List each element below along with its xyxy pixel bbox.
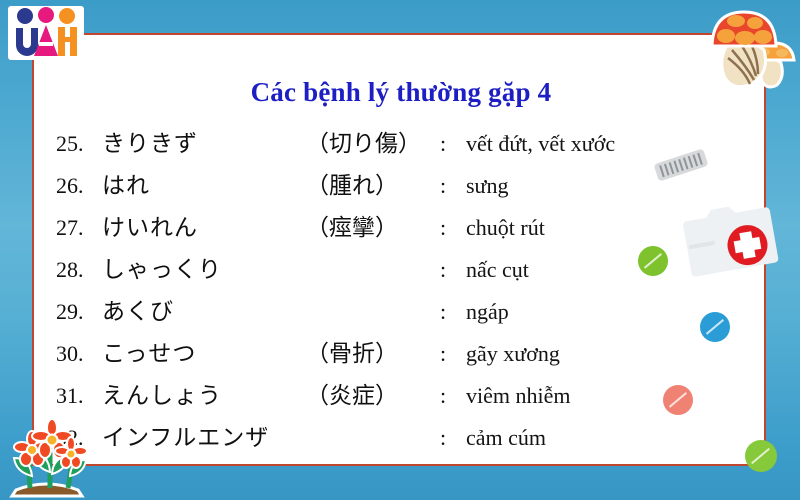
slide-canvas: Các bệnh lý thường gặp 4 25. きりきず （切り傷） … <box>0 0 800 500</box>
entry-number: 25. <box>56 123 98 165</box>
entry-kana: えんしょう <box>102 375 222 417</box>
entry-colon: : <box>440 333 446 375</box>
entry-kanji: （炎症） <box>306 375 398 417</box>
entry-number: 32. <box>56 417 98 459</box>
entry-number: 28. <box>56 249 98 291</box>
list-item: 32. インフルエンザ : cảm cúm <box>34 417 768 459</box>
entry-translation: ngáp <box>466 291 509 333</box>
list-item: 26. はれ （腫れ） : sưng <box>34 165 768 207</box>
entry-kanji: （骨折） <box>306 333 398 375</box>
entry-kana: けいれん <box>102 207 198 249</box>
entry-translation: gãy xương <box>466 333 560 375</box>
entry-number: 26. <box>56 165 98 207</box>
list-item: 30. こっせつ （骨折） : gãy xương <box>34 333 768 375</box>
entry-colon: : <box>440 123 446 165</box>
entry-colon: : <box>440 249 446 291</box>
entry-translation: nấc cụt <box>466 249 529 291</box>
pill-green-1 <box>638 246 668 276</box>
entry-kana: インフルエンザ <box>102 417 269 459</box>
entry-translation: vết đứt, vết xước <box>466 123 615 165</box>
entry-number: 30. <box>56 333 98 375</box>
list-item: 25. きりきず （切り傷） : vết đứt, vết xước <box>34 123 768 165</box>
vocabulary-list: 25. きりきず （切り傷） : vết đứt, vết xước 26. は… <box>34 123 768 459</box>
entry-kanji: （痙攣） <box>306 207 398 249</box>
entry-colon: : <box>440 165 446 207</box>
entry-colon: : <box>440 291 446 333</box>
entry-kana: はれ <box>102 165 150 207</box>
entry-number: 27. <box>56 207 98 249</box>
entry-kanji: （腫れ） <box>306 165 398 207</box>
entry-number: 31. <box>56 375 98 417</box>
uah-logo <box>8 6 84 60</box>
entry-translation: chuột rút <box>466 207 545 249</box>
entry-colon: : <box>440 207 446 249</box>
entry-number: 29. <box>56 291 98 333</box>
entry-kana: あくび <box>102 291 174 333</box>
entry-translation: cảm cúm <box>466 417 546 459</box>
entry-translation: viêm nhiễm <box>466 375 570 417</box>
entry-kana: きりきず <box>102 123 198 165</box>
entry-kana: こっせつ <box>102 333 196 375</box>
list-item: 27. けいれん （痙攣） : chuột rút <box>34 207 768 249</box>
pill-red <box>663 385 693 415</box>
entry-translation: sưng <box>466 165 509 207</box>
pill-green-2 <box>745 440 777 472</box>
page-title: Các bệnh lý thường gặp 4 <box>34 77 768 108</box>
entry-colon: : <box>440 417 446 459</box>
list-item: 29. あくび : ngáp <box>34 291 768 333</box>
entry-colon: : <box>440 375 446 417</box>
pill-blue <box>700 312 730 342</box>
entry-kanji: （切り傷） <box>306 123 421 165</box>
entry-kana: しゃっくり <box>102 249 222 291</box>
list-item: 31. えんしょう （炎症） : viêm nhiễm <box>34 375 768 417</box>
